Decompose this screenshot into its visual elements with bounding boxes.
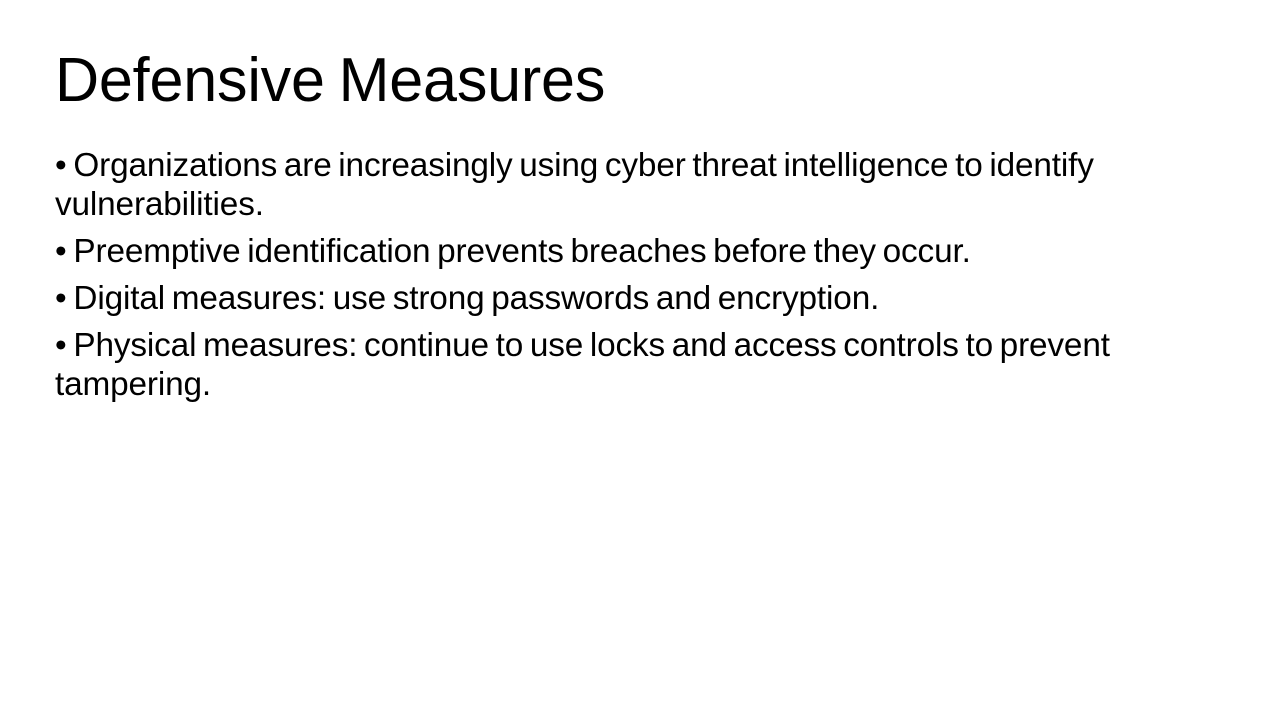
list-item-text: Digital measures: use strong passwords a… bbox=[73, 280, 879, 317]
list-item-text: Preemptive identification prevents breac… bbox=[73, 233, 970, 270]
slide-canvas: Defensive Measures • Organizations are i… bbox=[0, 0, 1280, 720]
list-item: • Digital measures: use strong passwords… bbox=[55, 279, 1177, 318]
bullet-point-icon: • bbox=[55, 233, 67, 270]
list-item-text: Organizations are increasingly using cyb… bbox=[55, 147, 1094, 223]
bullet-list: • Organizations are increasingly using c… bbox=[55, 146, 1183, 404]
list-item: • Organizations are increasingly using c… bbox=[55, 146, 1177, 224]
bullet-point-icon: • bbox=[55, 147, 67, 184]
list-item-text: Physical measures: continue to use locks… bbox=[55, 327, 1110, 403]
list-item: • Preemptive identification prevents bre… bbox=[55, 232, 1177, 271]
bullet-point-icon: • bbox=[55, 280, 67, 317]
bullet-point-icon: • bbox=[55, 327, 67, 364]
list-item: • Physical measures: continue to use loc… bbox=[55, 326, 1177, 404]
page-title: Defensive Measures bbox=[55, 48, 1168, 115]
